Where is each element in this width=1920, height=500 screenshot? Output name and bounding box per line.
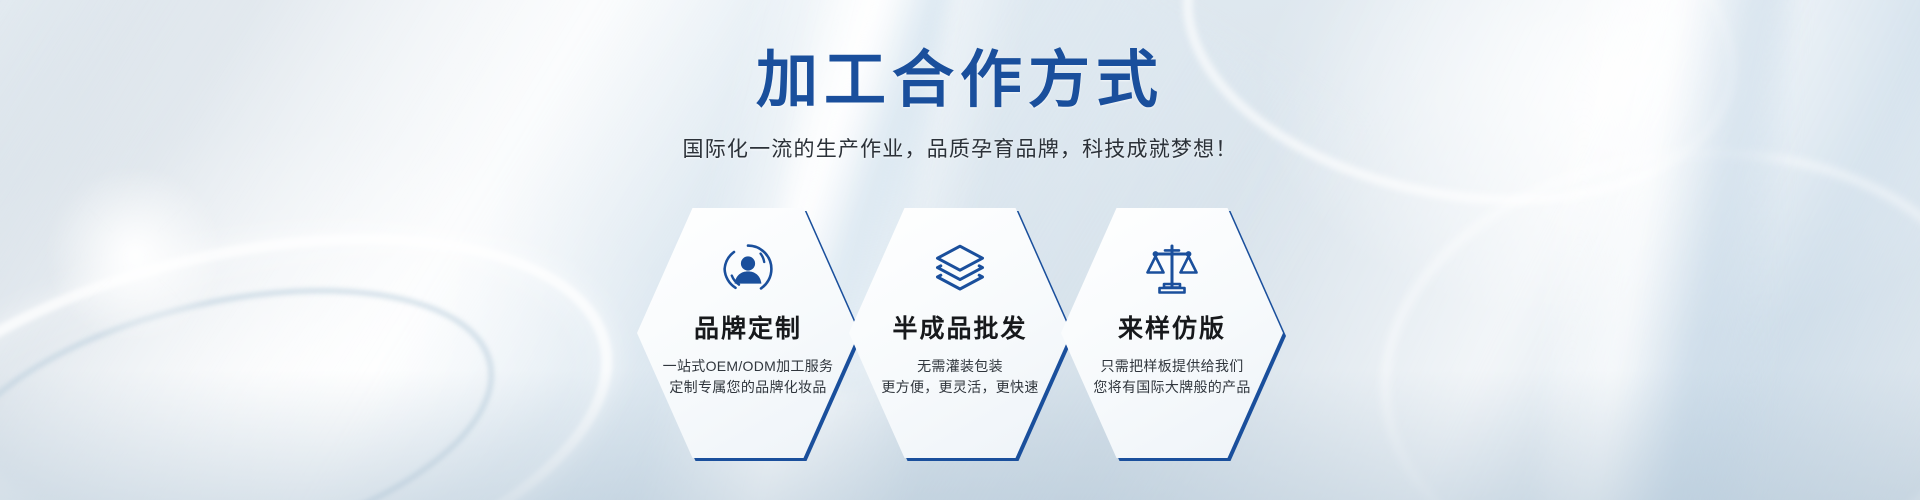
- service-card-line-1: 只需把样板提供给我们: [1093, 356, 1250, 377]
- page-subtitle: 国际化一流的生产作业，品质孕育品牌，科技成就梦想！: [0, 133, 1920, 163]
- service-card-line-2: 您将有国际大牌般的产品: [1093, 377, 1250, 398]
- service-card-sample-replication[interactable]: 来样仿版 只需把样板提供给我们 您将有国际大牌般的产品: [1061, 208, 1283, 458]
- service-card-semi-finished-wholesale[interactable]: 半成品批发 无需灌装包装 更方便，更灵活，更快速: [849, 208, 1071, 458]
- balance-scale-icon: [1144, 241, 1200, 297]
- page-title: 加工合作方式: [0, 46, 1920, 115]
- service-card-description: 只需把样板提供给我们 您将有国际大牌般的产品: [1093, 356, 1250, 398]
- service-card-description: 一站式OEM/ODM加工服务 定制专属您的品牌化妆品: [663, 356, 834, 398]
- service-card-title: 品牌定制: [694, 309, 802, 345]
- user-circle-icon: [720, 241, 776, 297]
- service-card-brand-customization[interactable]: 品牌定制 一站式OEM/ODM加工服务 定制专属您的品牌化妆品: [637, 208, 859, 458]
- layers-stack-icon: [932, 241, 988, 297]
- processing-cooperation-banner: 加工合作方式 国际化一流的生产作业，品质孕育品牌，科技成就梦想！: [0, 0, 1920, 500]
- service-card-title: 半成品批发: [892, 309, 1027, 345]
- service-card-line-2: 定制专属您的品牌化妆品: [663, 377, 834, 398]
- service-card-line-2: 更方便，更灵活，更快速: [881, 377, 1038, 398]
- service-card-line-1: 无需灌装包装: [881, 356, 1038, 377]
- service-card-list: 品牌定制 一站式OEM/ODM加工服务 定制专属您的品牌化妆品: [0, 208, 1920, 458]
- banner-heading-group: 加工合作方式 国际化一流的生产作业，品质孕育品牌，科技成就梦想！: [0, 46, 1920, 163]
- service-card-description: 无需灌装包装 更方便，更灵活，更快速: [881, 356, 1038, 398]
- service-card-line-1: 一站式OEM/ODM加工服务: [663, 356, 834, 377]
- service-card-title: 来样仿版: [1118, 309, 1226, 345]
